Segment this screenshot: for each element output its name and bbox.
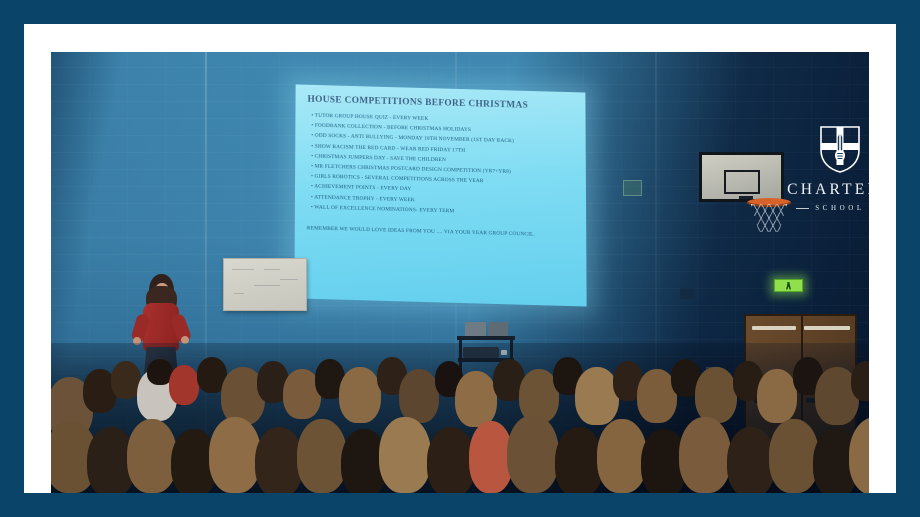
audience-head <box>339 367 381 423</box>
framed-photo-page: HOUSE COMPETITIONS BEFORE CHRISTMAS TUTO… <box>0 0 920 517</box>
slide-bullet-list: TUTOR GROUP HOUSE QUIZ - EVERY WEEK FOOD… <box>311 111 578 220</box>
logo-name: CHARTERS <box>787 181 869 199</box>
school-assembly-photo: HOUSE COMPETITIONS BEFORE CHRISTMAS TUTO… <box>51 52 869 493</box>
running-man-icon <box>786 282 791 290</box>
slide-title: HOUSE COMPETITIONS BEFORE CHRISTMAS <box>307 95 577 112</box>
audience-head <box>379 417 431 493</box>
audience-head <box>209 417 261 493</box>
audience-head <box>555 427 603 493</box>
logo-subtitle-row: SCHOOL <box>787 204 869 212</box>
projected-slide: HOUSE COMPETITIONS BEFORE CHRISTMAS TUTO… <box>294 84 586 306</box>
audience-head <box>507 415 559 493</box>
audience-head <box>695 367 737 423</box>
logo-rule-left <box>796 208 809 209</box>
whiteboard <box>223 258 307 311</box>
exit-sign <box>774 279 803 292</box>
logo-subtitle: SCHOOL <box>815 204 865 212</box>
student-audience <box>51 343 869 493</box>
audience-head <box>455 371 497 427</box>
wall-speaker <box>680 288 695 299</box>
audience-head <box>851 361 869 401</box>
wall-mounted-box <box>623 180 642 196</box>
audience-head <box>399 369 439 423</box>
charters-shield-crest <box>818 124 862 174</box>
audience-head <box>757 369 797 423</box>
audience-head <box>255 427 303 493</box>
audience-head <box>169 365 199 405</box>
audience-head <box>769 419 819 493</box>
slide-footer-note: REMEMBER WE WOULD LOVE IDEAS FROM YOU ..… <box>307 224 557 240</box>
audience-head <box>679 417 731 493</box>
audience-head <box>727 427 775 493</box>
charters-school-logo: CHARTERS SCHOOL <box>787 124 869 212</box>
audience-head <box>297 419 347 493</box>
audience-head <box>427 427 475 493</box>
audience-head <box>597 419 647 493</box>
audience-head <box>127 419 177 493</box>
